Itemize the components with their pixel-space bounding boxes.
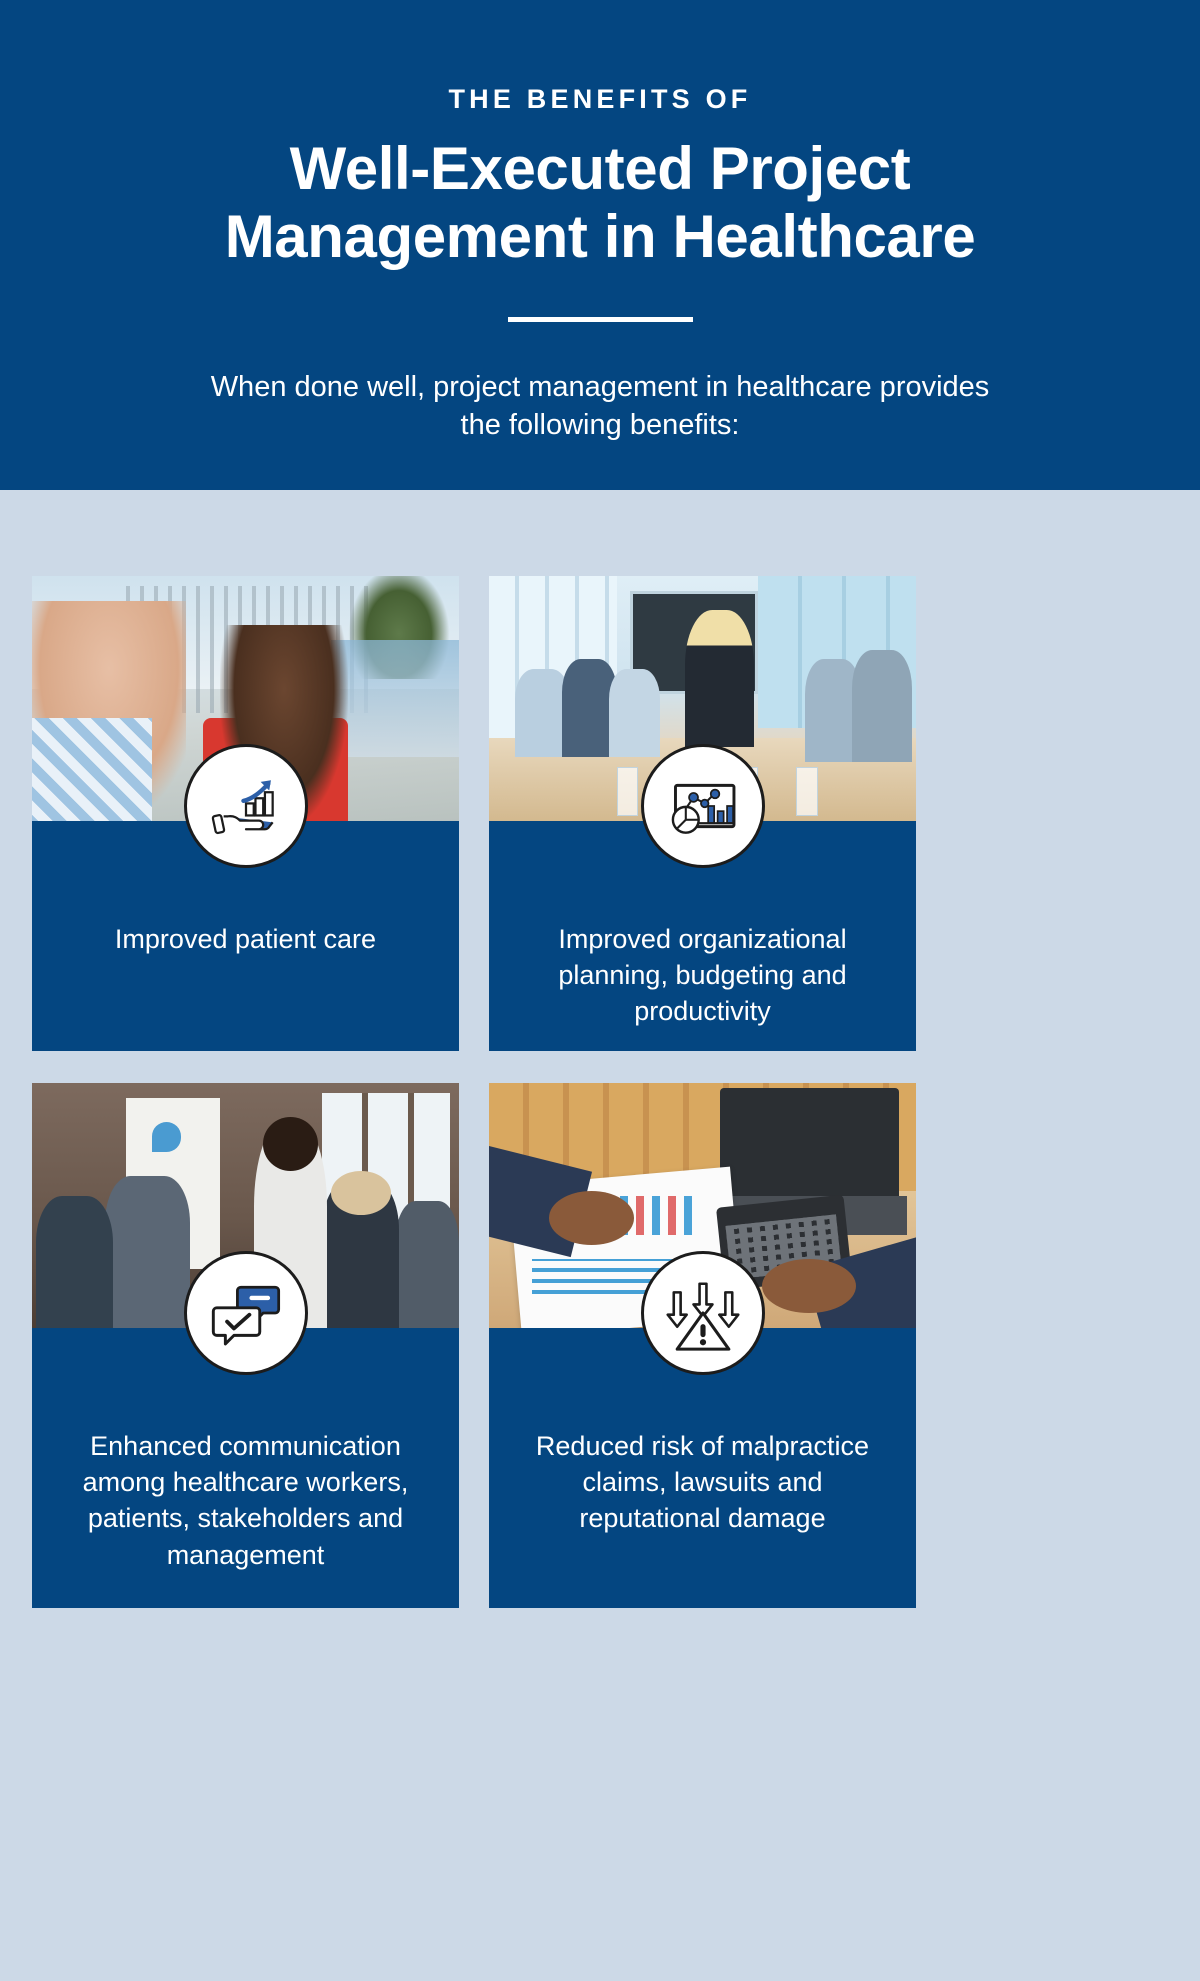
benefit-card-label: Reduced risk of malpractice claims, laws…: [489, 1428, 916, 1537]
benefit-card-label: Enhanced communication among healthcare …: [32, 1428, 459, 1573]
header-eyebrow: THE BENEFITS OF: [0, 86, 1200, 113]
speech-bubbles-check-icon: [184, 1251, 308, 1375]
header-subtitle: When done well, project management in he…: [0, 368, 1200, 445]
benefit-card-reduced-risk: Reduced risk of malpractice claims, laws…: [489, 1083, 916, 1608]
benefit-card-organizational-planning: Improved organizational planning, budget…: [489, 576, 916, 1051]
presentation-analytics-icon: [641, 744, 765, 868]
benefit-card-label: Improved organizational planning, budget…: [489, 921, 916, 1030]
page-title: Well-Executed Project Management in Heal…: [0, 135, 1200, 271]
benefit-card-improved-patient-care: Improved patient care: [32, 576, 459, 1051]
hand-growth-chart-icon: [184, 744, 308, 868]
benefit-card-enhanced-communication: Enhanced communication among healthcare …: [32, 1083, 459, 1608]
header-divider: [508, 317, 693, 322]
benefit-card-label: Improved patient care: [32, 921, 459, 957]
warning-triangle-down-arrows-icon: [641, 1251, 765, 1375]
infographic-header: THE BENEFITS OF Well-Executed Project Ma…: [0, 0, 1200, 490]
benefits-card-grid: Improved patient care: [0, 490, 1200, 1608]
